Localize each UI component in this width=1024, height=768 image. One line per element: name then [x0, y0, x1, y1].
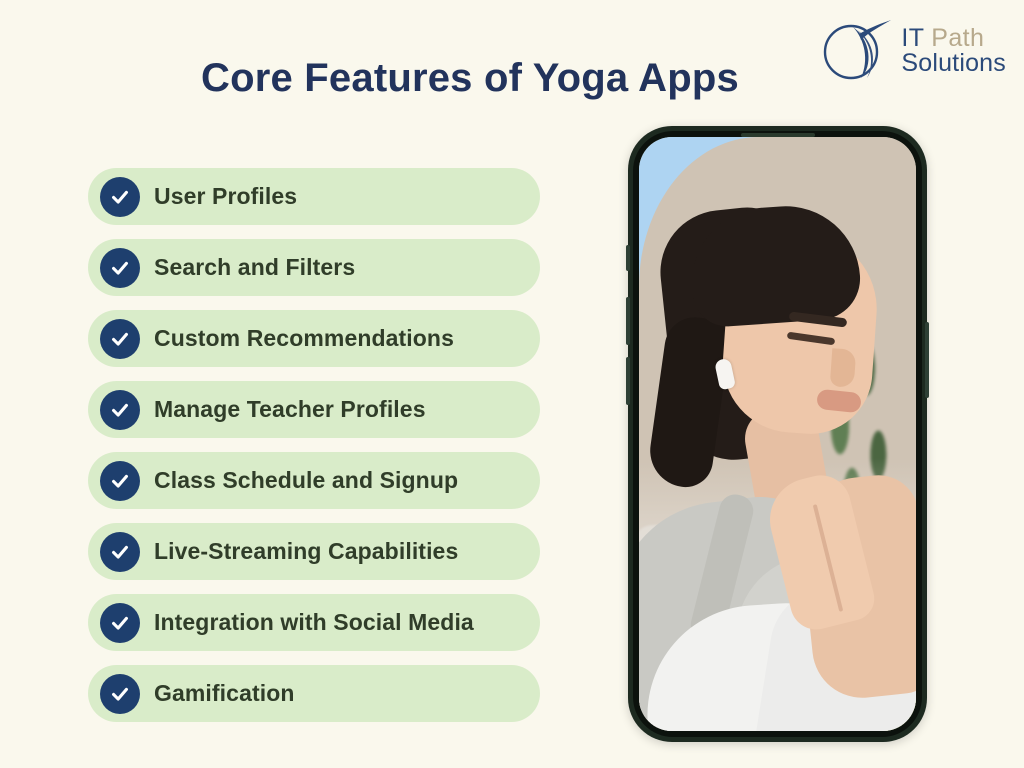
list-item: Integration with Social Media — [88, 594, 540, 651]
check-icon — [100, 177, 140, 217]
feature-label: User Profiles — [154, 183, 297, 210]
meditation-photo — [639, 137, 916, 731]
feature-label: Live-Streaming Capabilities — [154, 538, 458, 565]
volume-up-button — [626, 297, 630, 345]
check-icon — [100, 674, 140, 714]
silent-switch-button — [626, 245, 630, 271]
list-item: Class Schedule and Signup — [88, 452, 540, 509]
logo-text-path: Path — [931, 24, 984, 52]
check-icon — [100, 319, 140, 359]
page-title: Core Features of Yoga Apps — [0, 56, 940, 101]
check-icon — [100, 248, 140, 288]
phone-mockup — [628, 126, 927, 742]
feature-label: Search and Filters — [154, 254, 355, 281]
feature-label: Integration with Social Media — [154, 609, 474, 636]
list-item: Custom Recommendations — [88, 310, 540, 367]
list-item: Gamification — [88, 665, 540, 722]
list-item: Live-Streaming Capabilities — [88, 523, 540, 580]
check-icon — [100, 390, 140, 430]
check-icon — [100, 461, 140, 501]
feature-label: Custom Recommendations — [154, 325, 454, 352]
infographic-canvas: IT Path Solutions Core Features of Yoga … — [0, 0, 1024, 768]
feature-list: User Profiles Search and Filters Custom … — [88, 168, 540, 722]
volume-down-button — [626, 357, 630, 405]
phone-earpiece-speaker — [741, 133, 815, 137]
logo-text-it: IT — [901, 24, 924, 52]
list-item: Search and Filters — [88, 239, 540, 296]
check-icon — [100, 532, 140, 572]
phone-screen — [639, 137, 916, 731]
feature-label: Manage Teacher Profiles — [154, 396, 426, 423]
feature-label: Gamification — [154, 680, 295, 707]
feature-label: Class Schedule and Signup — [154, 467, 458, 494]
list-item: Manage Teacher Profiles — [88, 381, 540, 438]
power-button — [925, 322, 929, 398]
list-item: User Profiles — [88, 168, 540, 225]
check-icon — [100, 603, 140, 643]
